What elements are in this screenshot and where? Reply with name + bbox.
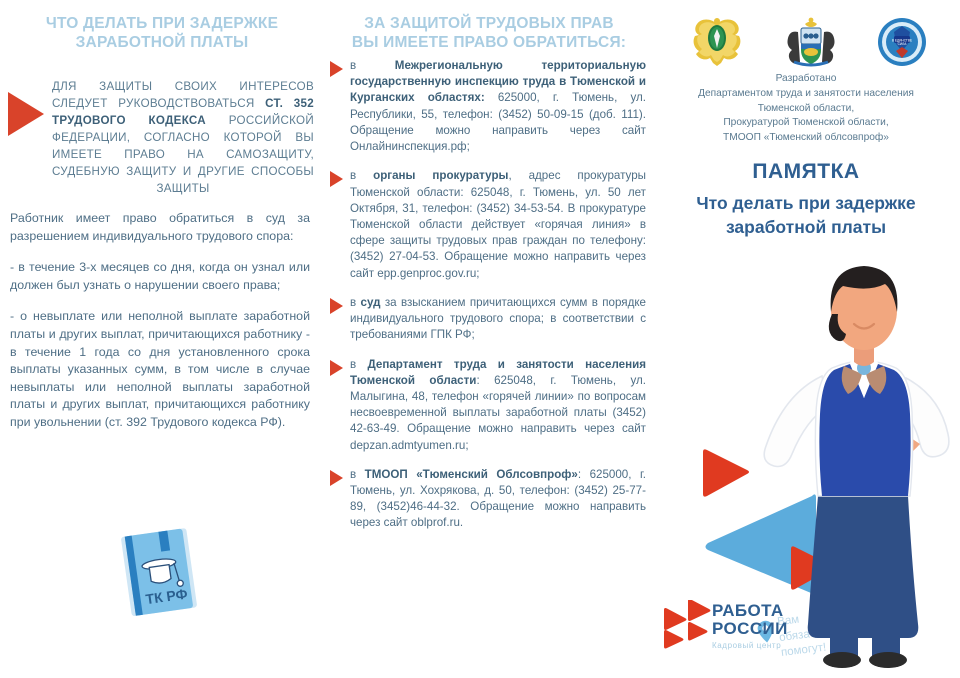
page-subtitle-line-2: заработной платы (658, 216, 954, 240)
page-title: ПАМЯТКА (658, 160, 954, 184)
middle-heading-line-2: ВЫ ИМЕЕТЕ ПРАВО ОБРАТИТЬСЯ: (334, 33, 644, 52)
left-paragraph-1: Работник имеет право обратиться в суд за… (10, 210, 310, 245)
labour-code-book-icon: ТК РФ (112, 520, 208, 624)
left-intro-text: ДЛЯ ЗАЩИТЫ СВОИХ ИНТЕРЕСОВ СЛЕДУЕТ РУКОВ… (52, 78, 314, 197)
middle-column-heading: ЗА ЗАЩИТОЙ ТРУДОВЫХ ПРАВ ВЫ ИМЕЕТЕ ПРАВО… (334, 14, 644, 53)
prosecutor-general-emblem-icon (689, 16, 745, 68)
red-triangle-bullet-icon (330, 171, 343, 187)
authorities-list: в Межрегиональную территориальную госуда… (330, 58, 646, 545)
authority-text: в Департамент труда и занятости населени… (350, 357, 646, 454)
authority-text: в ТМООП «Тюменский Облсовпроф»: 625000, … (350, 467, 646, 532)
left-intro-block: ДЛЯ ЗАЩИТЫ СВОИХ ИНТЕРЕСОВ СЛЕДУЕТ РУКОВ… (8, 78, 314, 197)
authority-prefix: в (350, 468, 365, 481)
authority-prefix: в (350, 169, 373, 182)
left-heading-line-1: ЧТО ДЕЛАТЬ ПРИ ЗАДЕРЖКЕ (12, 14, 312, 33)
authority-details: за взысканием причитающихся сумм в поряд… (350, 296, 646, 341)
list-item: в органы прокуратуры, адрес прокуратуры … (330, 168, 646, 282)
list-item: в Департамент труда и занятости населени… (330, 357, 646, 454)
tmoop-oblsovprof-emblem-icon: В ЕДИНСТВЕ СИЛА (877, 17, 927, 67)
authority-text: в суд за взысканием причитающихся сумм в… (350, 295, 646, 344)
left-column: ЧТО ДЕЛАТЬ ПРИ ЗАДЕРЖКЕ ЗАРАБОТНОЙ ПЛАТЫ… (0, 0, 320, 678)
left-column-heading: ЧТО ДЕЛАТЬ ПРИ ЗАДЕРЖКЕ ЗАРАБОТНОЙ ПЛАТЫ (12, 14, 312, 53)
authority-name: суд (361, 296, 381, 309)
left-heading-line-2: ЗАРАБОТНОЙ ПЛАТЫ (12, 33, 312, 52)
brochure-page: ЧТО ДЕЛАТЬ ПРИ ЗАДЕРЖКЕ ЗАРАБОТНОЙ ПЛАТЫ… (0, 0, 960, 678)
credits-line-5: ТМООП «Тюменский облсовпроф» (658, 131, 954, 146)
authority-text: в органы прокуратуры, адрес прокуратуры … (350, 168, 646, 282)
authority-name: органы прокуратуры (373, 169, 508, 182)
credits-line-4: Прокуратурой Тюменской области, (658, 116, 954, 131)
red-arrow-icon (8, 92, 44, 136)
red-triangle-bullet-icon (330, 298, 343, 314)
credits-line-3: Тюменской области, (658, 102, 954, 117)
page-subtitle: Что делать при задержке заработной платы (658, 192, 954, 239)
authority-details: , адрес прокуратуры Тюменской области: 6… (350, 169, 646, 279)
list-item: в суд за взысканием причитающихся сумм в… (330, 295, 646, 344)
authority-prefix: в (350, 296, 361, 309)
credits-line-2: Департаментом труда и занятости населени… (658, 87, 954, 102)
page-subtitle-line-1: Что делать при задержке (658, 192, 954, 216)
authority-prefix: в (350, 358, 368, 371)
left-body-text: Работник имеет право обратиться в суд за… (10, 210, 310, 446)
middle-column: ЗА ЗАЩИТОЙ ТРУДОВЫХ ПРАВ ВЫ ИМЕЕТЕ ПРАВО… (326, 0, 648, 678)
tyumen-region-coat-of-arms-icon (780, 16, 842, 68)
authority-text: в Межрегиональную территориальную госуда… (350, 58, 646, 155)
logo-tagline: Кадровый центр (712, 641, 781, 650)
rabota-rossii-wordmark: РАБОТА РОССИИ (712, 602, 788, 638)
emblems-row: В ЕДИНСТВЕ СИЛА (672, 16, 944, 68)
left-paragraph-2: - в течение 3-х месяцев со дня, когда он… (10, 259, 310, 294)
red-triangle-bullet-icon (330, 61, 343, 77)
svg-text:СИЛА: СИЛА (897, 42, 907, 46)
logo-line-1: РАБОТА (712, 602, 788, 620)
credits-block: Разработано Департаментом труда и занято… (658, 72, 954, 146)
authority-name: ТМООП «Тюменский Облсовпроф» (365, 468, 578, 481)
list-item: в Межрегиональную территориальную госуда… (330, 58, 646, 155)
list-item: в ТМООП «Тюменский Облсовпроф»: 625000, … (330, 467, 646, 532)
middle-heading-line-1: ЗА ЗАЩИТОЙ ТРУДОВЫХ ПРАВ (334, 14, 644, 33)
left-paragraph-3: - о невыплате или неполной выплате зараб… (10, 308, 310, 431)
authority-prefix: в (350, 59, 395, 72)
logo-line-2: РОССИИ (712, 620, 788, 638)
red-triangle-bullet-icon (330, 470, 343, 486)
credits-line-1: Разработано (658, 72, 954, 87)
red-triangle-bullet-icon (330, 360, 343, 376)
